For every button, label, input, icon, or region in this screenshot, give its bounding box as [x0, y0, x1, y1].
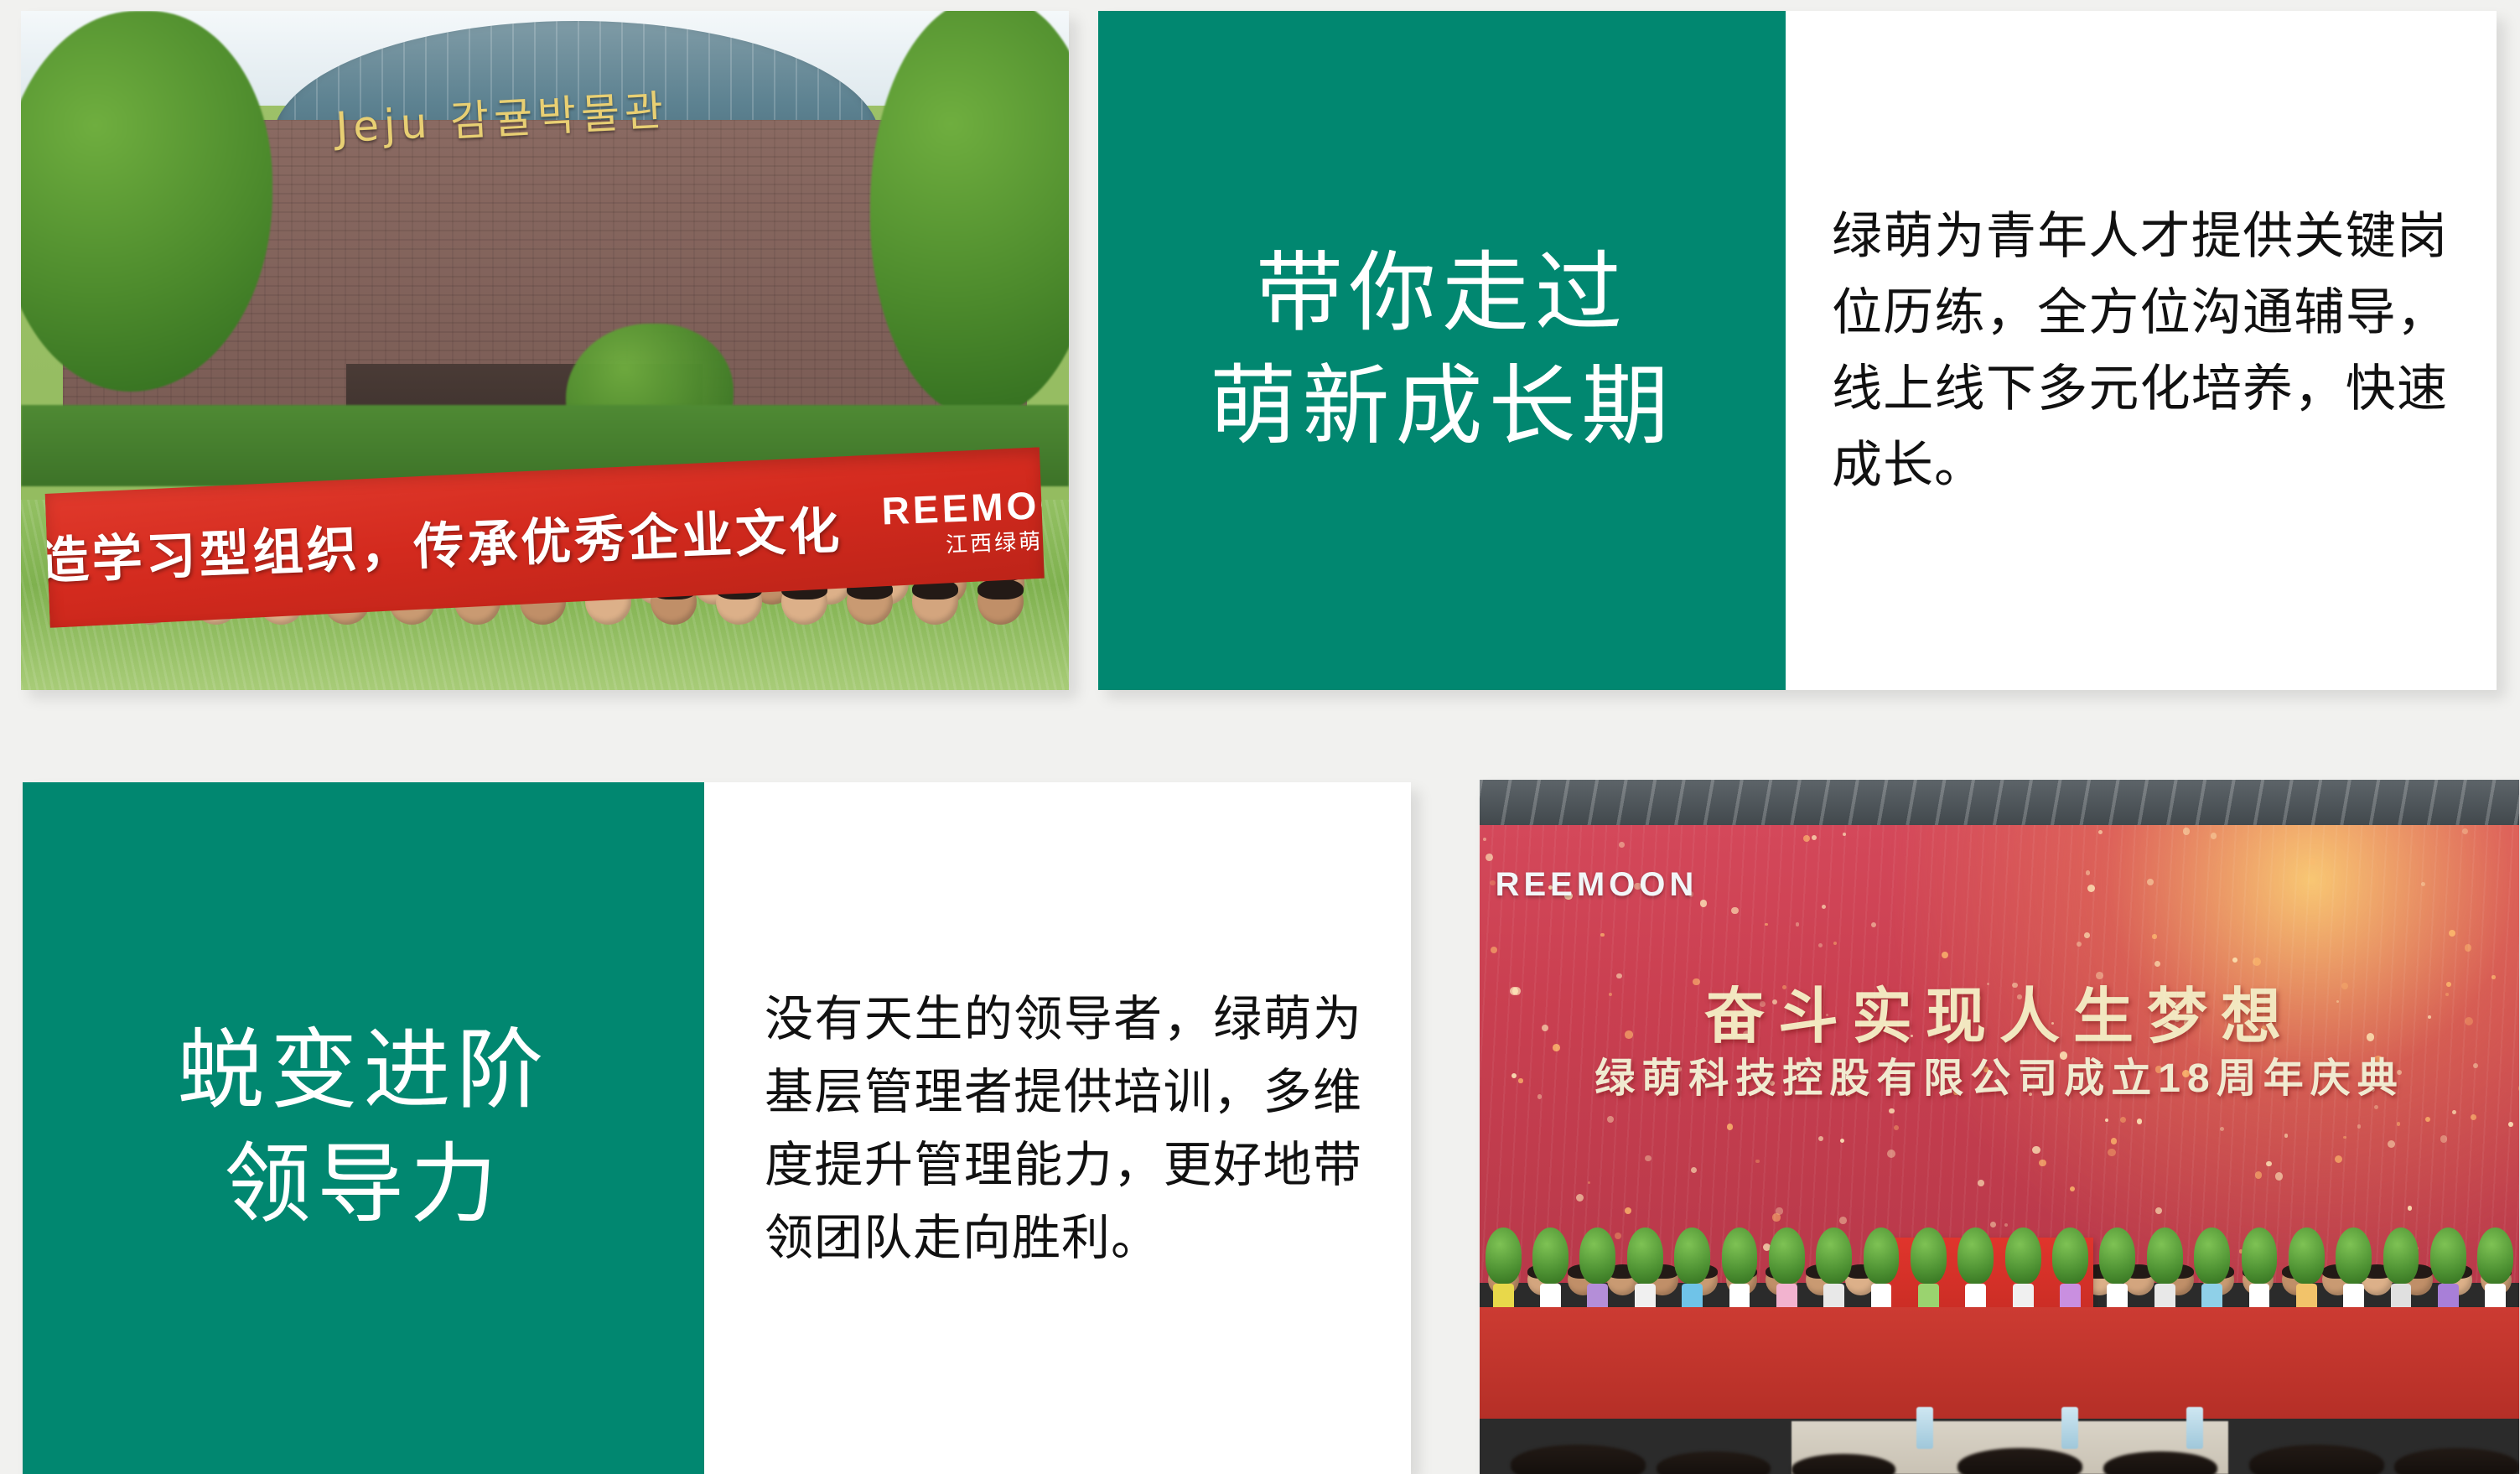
confetti-dot [2462, 828, 2468, 834]
confetti-dot [1656, 1072, 1659, 1076]
banner-logo: REEMOON 江西绿萌 [881, 483, 1069, 558]
confetti-dot [1693, 978, 1699, 985]
plant-leaves [1674, 1227, 1710, 1284]
confetti-dot [2154, 961, 2161, 968]
confetti-dot [1609, 993, 1612, 996]
confetti-dot [2421, 882, 2425, 886]
confetti-dot [1911, 1035, 1913, 1037]
plant-leaves [2477, 1227, 2513, 1284]
plant-leaves [2099, 1227, 2135, 1284]
audience-head [2249, 1445, 2384, 1474]
confetti-dot [1983, 1067, 1989, 1072]
confetti-dot [1511, 1073, 1517, 1079]
confetti-dot [1553, 1044, 1560, 1051]
confetti-dot [2262, 1025, 2266, 1030]
plant-leaves [1816, 1227, 1852, 1284]
confetti-dot [2017, 994, 2022, 999]
content-card-leadership: 蜕变进阶 领导力 没有天生的领导者，绿萌为基层管理者提供培训，多维度提升管理能力… [23, 782, 1411, 1474]
confetti-dot [2012, 983, 2018, 989]
confetti-dot [1483, 838, 1487, 842]
plant-leaves [1486, 1227, 1522, 1284]
confetti-dot [1619, 842, 1625, 848]
confetti-dot [2374, 1056, 2382, 1063]
plant-leaves [1957, 1227, 1994, 1284]
confetti-dot [2341, 983, 2348, 989]
confetti-dot [1542, 1025, 1548, 1031]
confetti-dot [2367, 1033, 2375, 1041]
confetti-dot [1782, 985, 1786, 989]
plant-leaves [1864, 1227, 1900, 1284]
backdrop-title: 奋斗实现人生梦想 [1480, 967, 2519, 1055]
audience-head [1657, 1451, 1771, 1474]
confetti-dot [1548, 885, 1553, 890]
confetti-dot [2152, 934, 2156, 938]
confetti-dot [2182, 1070, 2190, 1077]
leadership-heading: 蜕变进阶 领导力 [177, 1015, 549, 1241]
confetti-dot [1833, 942, 1837, 945]
plant-leaves [1911, 1227, 1947, 1284]
confetti-dot [2232, 958, 2237, 963]
plant-leaves [2289, 1227, 2325, 1284]
confetti-dot [2446, 982, 2451, 987]
leadership-body-panel: 没有天生的领导者，绿萌为基层管理者提供培训，多维度提升管理能力，更好地带领团队走… [704, 782, 1411, 1474]
water-bottle [2186, 1407, 2203, 1450]
confetti-dot [2465, 944, 2472, 952]
confetti-dot [1600, 933, 1604, 937]
plant-leaves [2005, 1227, 2041, 1284]
confetti-dot [1510, 987, 1518, 995]
plant-leaves [2052, 1227, 2088, 1284]
confetti-dot [1942, 952, 1948, 958]
confetti-dot [1812, 835, 1817, 840]
confetti-dot [1843, 833, 1846, 836]
confetti-dot [2098, 830, 2103, 835]
backdrop-reemoon-logo: REEMOON [1496, 866, 1698, 904]
confetti-dot [1973, 994, 1981, 1002]
growth-heading-panel: 带你走过 萌新成长期 [1098, 11, 1786, 690]
confetti-dot [2428, 1015, 2431, 1019]
confetti-dot [1731, 907, 1739, 915]
confetti-dot [2308, 858, 2315, 865]
confetti-dot [1765, 923, 1768, 926]
confetti-dot [2060, 1051, 2067, 1059]
confetti-dot [2253, 958, 2261, 966]
confetti-dot [1987, 983, 1989, 985]
reemoon-wordmark: REEMOON [881, 483, 1069, 530]
confetti-dot [2184, 1019, 2191, 1026]
plant-leaves [1722, 1227, 1758, 1284]
confetti-dot [1490, 880, 1496, 886]
confetti-dot [1822, 905, 1826, 909]
confetti-dot [1743, 1030, 1751, 1039]
confetti-dot [1616, 973, 1622, 979]
confetti-dot [1634, 883, 1641, 890]
water-bottle [1916, 1407, 1933, 1450]
confetti-dot [1491, 947, 1497, 953]
confetti-dot [2183, 828, 2190, 834]
confetti-dot [2087, 885, 2095, 892]
confetti-dot [1518, 1078, 1522, 1082]
slide-canvas: Jeju 감귤박물관 打造学习型组织，传承优秀企业文化 REEMOON [0, 0, 2520, 1474]
audience-foreground [1480, 1349, 2519, 1474]
confetti-dot [1871, 922, 1876, 927]
plant-leaves [1769, 1227, 1805, 1284]
audience-head [2394, 1448, 2519, 1474]
confetti-dot [1796, 922, 1800, 926]
plant-leaves [1579, 1227, 1615, 1284]
plant-leaves [2383, 1227, 2419, 1284]
reemoon-subbrand: 江西绿萌 [946, 529, 1044, 554]
confetti-dot [2084, 932, 2090, 938]
confetti-dot [2336, 1000, 2339, 1003]
confetti-dot [2491, 975, 2496, 979]
plant-leaves [2336, 1227, 2372, 1284]
confetti-dot [2473, 1063, 2479, 1069]
plant-leaves [2194, 1227, 2230, 1284]
growth-body-text: 绿萌为青年人才提供关键岗位历练，全方位沟通辅导，线上线下多元化培养，快速成长。 [1832, 198, 2448, 504]
confetti-dot [1772, 999, 1777, 1004]
confetti-dot [1760, 1001, 1766, 1007]
confetti-dot [2465, 1017, 2473, 1025]
confetti-dot [2077, 942, 2082, 947]
confetti-dot [1486, 854, 1493, 861]
growth-heading: 带你走过 萌新成长期 [1209, 237, 1674, 464]
ceremony-group-photo: REEMOON 奋斗实现人生梦想 绿萌科技控股有限公司成立18周年庆典 [1480, 780, 2519, 1474]
confetti-dot [2211, 833, 2217, 839]
confetti-dot [2175, 1018, 2179, 1022]
confetti-dot [2147, 879, 2154, 885]
training-group-photo: Jeju 감귤박물관 打造学习型组织，传承优秀企业文化 REEMOON [21, 11, 1069, 690]
plant-leaves [1532, 1227, 1569, 1284]
confetti-dot [1564, 892, 1572, 900]
confetti-dot [2449, 930, 2455, 937]
photo-card-training: Jeju 감귤박물관 打造学习型组织，传承优秀企业文化 REEMOON [21, 11, 1069, 690]
confetti-dot [1688, 891, 1693, 896]
confetti-dot [2051, 1022, 2054, 1025]
confetti-dot [1677, 1067, 1681, 1071]
confetti-dot [1826, 1014, 1828, 1016]
audience-head [1511, 1445, 1646, 1474]
confetti-dot [1625, 1030, 1633, 1039]
plant-leaves [2242, 1227, 2278, 1284]
confetti-dot [2155, 1066, 2163, 1073]
confetti-dot [2445, 993, 2449, 996]
plant-leaves [2147, 1227, 2183, 1284]
growth-body-panel: 绿萌为青年人才提供关键岗位历练，全方位沟通辅导，线上线下多元化培养，快速成长。 [1786, 11, 2497, 690]
photo-card-ceremony: REEMOON 奋斗实现人生梦想 绿萌科技控股有限公司成立18周年庆典 [1480, 780, 2519, 1474]
water-bottle [2061, 1407, 2078, 1450]
confetti-dot [2096, 972, 2103, 979]
leadership-heading-panel: 蜕变进阶 领导力 [23, 782, 704, 1474]
confetti-dot [1818, 943, 1823, 947]
confetti-dot [1803, 835, 1810, 842]
confetti-dot [1512, 987, 1521, 995]
plant-leaves [1627, 1227, 1663, 1284]
confetti-dot [1700, 900, 1708, 907]
confetti-dot [2086, 870, 2090, 875]
content-card-growth: 带你走过 萌新成长期 绿萌为青年人才提供关键岗位历练，全方位沟通辅导，线上线下多… [1098, 11, 2497, 690]
banner-slogan: 打造学习型组织，传承优秀企业文化 [21, 490, 844, 595]
confetti-dot [2397, 1070, 2402, 1075]
leadership-body-text: 没有天生的领导者，绿萌为基层管理者提供培训，多维度提升管理能力，更好地带领团队走… [765, 983, 1362, 1274]
plant-leaves [2430, 1227, 2466, 1284]
confetti-dot [1861, 1073, 1864, 1076]
